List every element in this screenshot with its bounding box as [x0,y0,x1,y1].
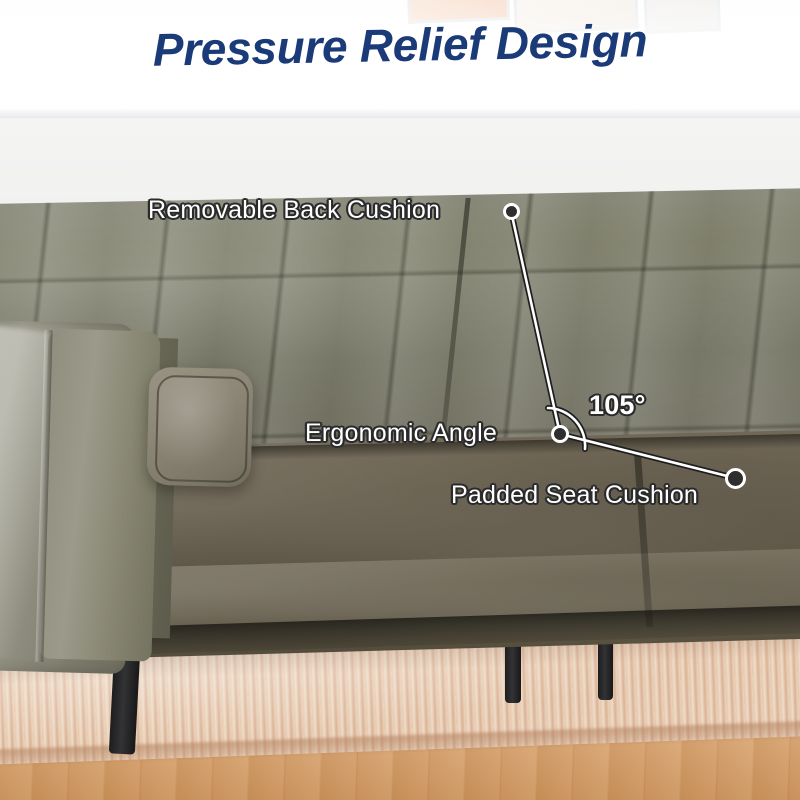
callout-overlay: Removable Back Cushion Ergonomic Angle P… [0,0,800,800]
angle-value-label: 105° [589,390,646,421]
angle-diagram-svg [0,0,800,800]
infographic-canvas: Removable Back Cushion Ergonomic Angle P… [0,0,800,800]
marker-back-cushion [503,203,520,220]
banner-bottom-edge [0,108,800,118]
title-banner: Pressure Relief Design [0,0,800,118]
angle-line-outlines [511,211,735,478]
callout-ergonomic-angle: Ergonomic Angle [305,419,497,448]
angle-leg-upper [511,211,560,434]
angle-leg-lower [560,434,735,478]
callout-removable-back-cushion: Removable Back Cushion [148,196,440,225]
callout-padded-seat-cushion: Padded Seat Cushion [451,481,698,510]
angle-lines [511,211,735,478]
marker-ergonomic-angle-vertex [551,425,569,443]
marker-padded-seat-cushion [725,468,746,489]
